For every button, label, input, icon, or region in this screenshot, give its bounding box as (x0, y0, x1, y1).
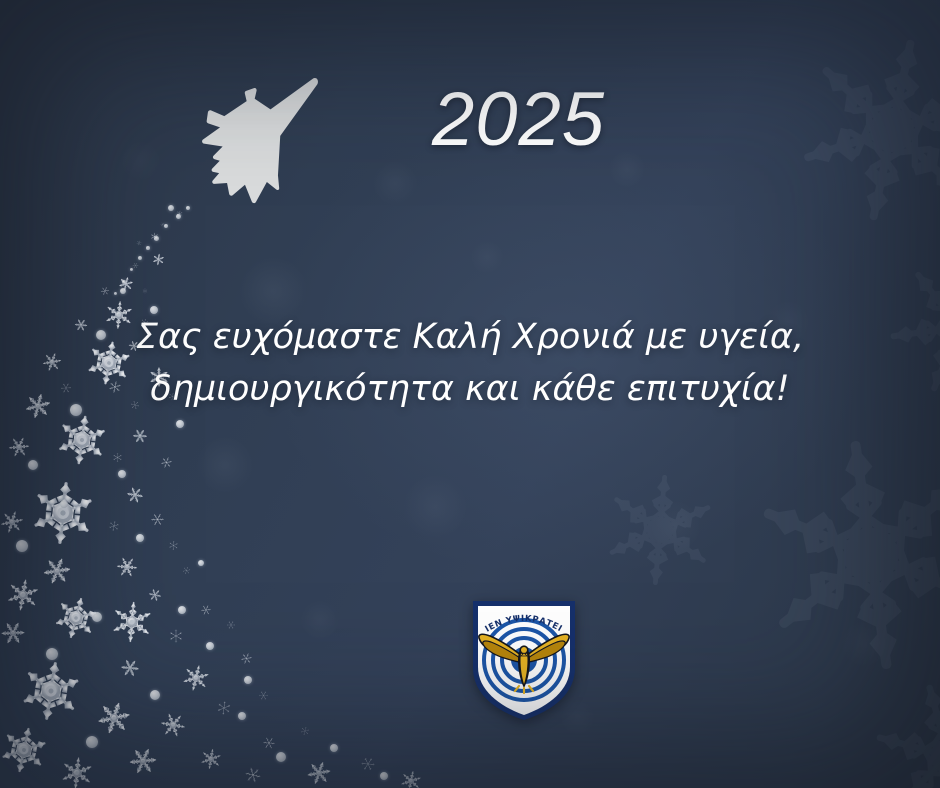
greeting-card: 2025 Σας ευχόμαστε Καλή Χρονιά με υγεία,… (0, 0, 940, 788)
vignette-overlay (0, 0, 940, 788)
